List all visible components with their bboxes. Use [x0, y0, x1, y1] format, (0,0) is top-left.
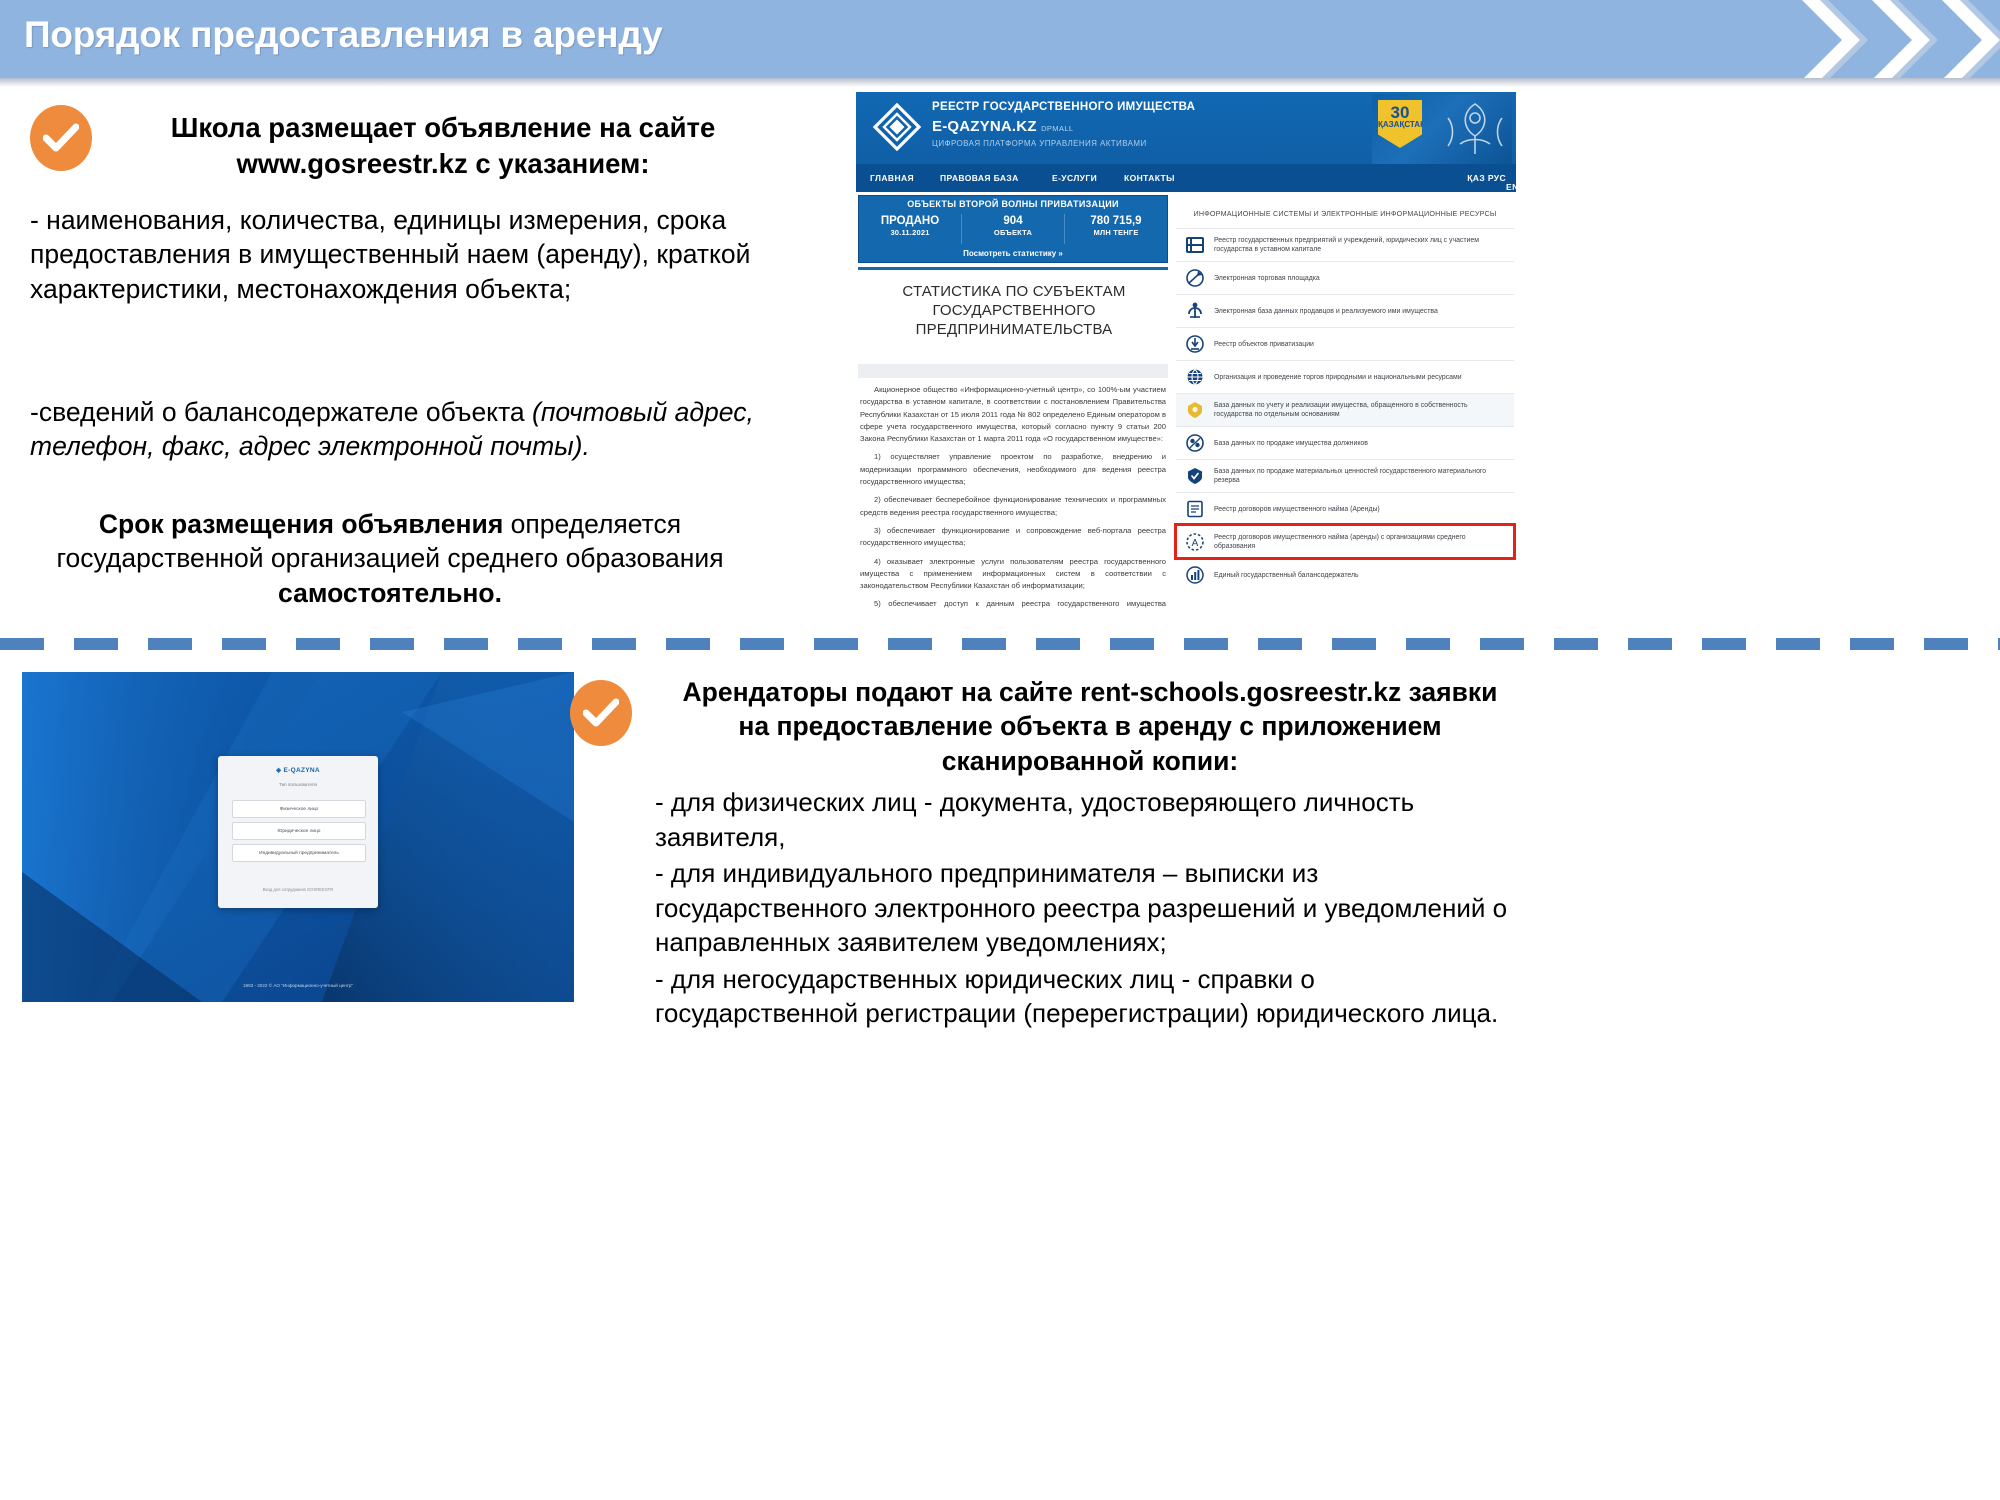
list-item-label: Реестр договоров имущественного найма (а…: [1214, 533, 1506, 552]
list-item[interactable]: Электронная торговая площадка: [1176, 261, 1514, 294]
site-brand-main: E-QAZYNA.KZ: [932, 118, 1037, 135]
anniversary-badge: 30 ҚАЗАҚСТАН: [1378, 100, 1422, 148]
anniversary-label: ҚАЗАҚСТАН: [1378, 120, 1426, 129]
debtors-icon: [1184, 432, 1206, 454]
list-item-label: База данных по учету и реализации имущес…: [1214, 401, 1506, 420]
school-rent-icon: A: [1184, 531, 1206, 553]
left-paragraph-3-bold-a: Срок размещения объявления: [99, 509, 503, 539]
login-subtitle: Тип пользователя: [218, 782, 378, 787]
article-paragraph: 4) оказывает электронные услуги пользова…: [860, 556, 1166, 593]
list-item-label: Реестр объектов приватизации: [1214, 340, 1314, 350]
list-item-school-rent-registry-highlighted[interactable]: A Реестр договоров имущественного найма …: [1176, 525, 1514, 558]
stats-underline: [858, 267, 1168, 270]
stat-cell-sold: ПРОДАНО 30.11.2021: [859, 214, 962, 244]
article-title: СТАТИСТИКА ПО СУБЪЕКТАМ ГОСУДАРСТВЕННОГО…: [864, 282, 1164, 340]
privatization-stats-box: ОБЪЕКТЫ ВТОРОЙ ВОЛНЫ ПРИВАТИЗАЦИИ ПРОДАН…: [858, 195, 1168, 263]
bottom-right-heading-line1: Арендаторы подают на сайте rent-schools.…: [683, 677, 1498, 707]
site-tagline: ЦИФРОВАЯ ПЛАТФОРМА УПРАВЛЕНИЯ АКТИВАМИ: [932, 139, 1147, 148]
article-separator: [858, 364, 1168, 378]
stat-count-label: ОБЪЕКТА: [962, 228, 1064, 237]
header-shadow: [0, 78, 2000, 87]
trade-platform-icon: [1184, 267, 1206, 289]
login-footer: 1993 - 2022 © АО "Информационно-учетный …: [22, 983, 574, 988]
article-paragraph: 5) обеспечивает доступ к данным реестра …: [860, 598, 1166, 612]
article-paragraph: 1) осуществляет управление проектом по р…: [860, 451, 1166, 488]
site-navigation-bar[interactable]: ГЛАВНАЯ ПРАВОВАЯ БАЗА Е-УСЛУГИ КОНТАКТЫ …: [856, 164, 1516, 192]
reserve-icon: [1184, 465, 1206, 487]
article-body: Акционерное общество «Информационно-учет…: [860, 384, 1166, 612]
list-item-label: Единый государственный балансодержатель: [1214, 571, 1359, 581]
list-item[interactable]: Электронная база данных продавцов и реал…: [1176, 294, 1514, 327]
site-registry-title: РЕЕСТР ГОСУДАРСТВЕННОГО ИМУЩЕСТВА: [932, 101, 1195, 113]
lang-kaz[interactable]: ҚАЗ: [1467, 173, 1485, 183]
list-item-label: Организация и проведение торгов природны…: [1214, 373, 1462, 383]
article-paragraph: Акционерное общество «Информационно-учет…: [860, 384, 1166, 445]
stats-row: ПРОДАНО 30.11.2021 904 ОБЪЕКТА 780 715,9…: [859, 214, 1167, 244]
list-item[interactable]: Реестр объектов приватизации: [1176, 327, 1514, 360]
list-item-label: Реестр договоров имущественного найма (А…: [1214, 505, 1380, 515]
site-brand: E-QAZYNA.KZ DPMALL: [932, 118, 1074, 135]
site-brand-suffix: DPMALL: [1041, 124, 1073, 133]
nav-item-contacts[interactable]: КОНТАКТЫ: [1124, 173, 1175, 183]
left-paragraph-3-bold-b: самостоятельно.: [278, 578, 502, 608]
list-item-label: Реестр государственных предприятий и учр…: [1214, 236, 1506, 255]
bottom-right-heading-line3: сканированной копии:: [942, 746, 1238, 776]
bottom-right-heading-line2: на предоставление объекта в аренду с при…: [738, 711, 1441, 741]
bottom-right-list: - для физических лиц - документа, удосто…: [655, 785, 1525, 1033]
ornament-icon: [1440, 98, 1510, 160]
information-systems-sidebar: ИНФОРМАЦИОННЫЕ СИСТЕМЫ И ЭЛЕКТРОННЫЕ ИНФ…: [1176, 195, 1514, 591]
balance-holder-icon: [1184, 564, 1206, 586]
stat-cell-amount: 780 715,9 МЛН ТЕНГЕ: [1065, 214, 1167, 244]
list-item[interactable]: База данных по продаже имущества должник…: [1176, 426, 1514, 459]
lang-rus[interactable]: РУС: [1488, 173, 1506, 183]
stat-count-value: 904: [962, 214, 1064, 228]
stat-cell-count: 904 ОБЪЕКТА: [962, 214, 1065, 244]
check-circle-icon: [570, 680, 632, 746]
view-statistics-link[interactable]: Посмотреть статистику »: [859, 249, 1167, 258]
check-circle-icon: [30, 105, 92, 171]
list-item-label: База данных по продаже имущества должник…: [1214, 439, 1368, 449]
site-header-bar: РЕЕСТР ГОСУДАРСТВЕННОГО ИМУЩЕСТВА E-QAZY…: [856, 92, 1516, 164]
bottom-right-item: - для индивидуального предпринимателя – …: [655, 856, 1525, 960]
left-paragraph-2-lead: -сведений о балансодержателе объекта: [30, 397, 532, 427]
list-item[interactable]: Единый государственный балансодержатель: [1176, 558, 1514, 591]
list-item[interactable]: Реестр договоров имущественного найма (А…: [1176, 492, 1514, 525]
database-people-icon: [1184, 300, 1206, 322]
bottom-right-item: - для негосударственных юридических лиц …: [655, 962, 1525, 1031]
list-item[interactable]: База данных по учету и реализации имущес…: [1176, 393, 1514, 426]
gold-shield-icon: [1184, 399, 1206, 421]
left-paragraph-2: -сведений о балансодержателе объекта (по…: [30, 395, 760, 464]
gosreestr-website-screenshot: РЕЕСТР ГОСУДАРСТВЕННОГО ИМУЩЕСТВА E-QAZY…: [856, 92, 1516, 612]
login-staff-note[interactable]: Вход для сотрудников GOSREESTR: [218, 887, 378, 892]
nav-item-eservices[interactable]: Е-УСЛУГИ: [1052, 173, 1097, 183]
left-paragraph-3: Срок размещения объявления определяется …: [40, 507, 740, 610]
diamond-logo-icon: [872, 102, 922, 152]
list-item-label: Электронная торговая площадка: [1214, 274, 1320, 284]
list-item[interactable]: Организация и проведение торгов природны…: [1176, 360, 1514, 393]
nav-item-home[interactable]: ГЛАВНАЯ: [870, 173, 914, 183]
login-brand-label: E-QAZYNA: [284, 767, 320, 774]
stat-amount-value: 780 715,9: [1065, 214, 1167, 228]
list-item[interactable]: Реестр государственных предприятий и учр…: [1176, 228, 1514, 261]
left-heading-line1: Школа размещает объявление на сайте: [171, 112, 716, 143]
list-item-label: Электронная база данных продавцов и реал…: [1214, 307, 1438, 317]
left-paragraph-1: - наименования, количества, единицы изме…: [30, 203, 760, 306]
stat-amount-label: МЛН ТЕНГЕ: [1065, 228, 1167, 237]
kazakhstan-emblem-banner: 30 ҚАЗАҚСТАН: [1372, 94, 1512, 164]
left-heading: Школа размещает объявление на сайте www.…: [98, 110, 788, 183]
stat-sold-value: ПРОДАНО: [859, 214, 961, 228]
left-heading-line2: www.gosreestr.kz с указанием:: [236, 148, 649, 179]
dashed-divider: [0, 638, 2000, 650]
nav-item-legal[interactable]: ПРАВОВАЯ БАЗА: [940, 173, 1019, 183]
list-item-label: База данных по продаже материальных ценн…: [1214, 467, 1506, 486]
chevron-decor-3: [1926, 0, 2000, 78]
globe-auction-icon: [1184, 366, 1206, 388]
user-type-entrepreneur-button[interactable]: Индивидуальный предприниматель: [232, 844, 366, 862]
login-page-screenshot: ◈ E-QAZYNA Тип пользователя Физическое л…: [22, 672, 574, 1002]
slide-header: Порядок предоставления в аренду: [0, 0, 2000, 78]
article-paragraph: 2) обеспечивает бесперебойное функционир…: [860, 494, 1166, 519]
lang-eng[interactable]: ENG: [1506, 182, 1516, 192]
anniversary-number: 30: [1378, 104, 1422, 121]
user-type-individual-button[interactable]: Физическое лицо: [232, 800, 366, 818]
sidebar-title: ИНФОРМАЦИОННЫЕ СИСТЕМЫ И ЭЛЕКТРОННЫЕ ИНФ…: [1176, 195, 1514, 228]
login-brand: ◈ E-QAZYNA: [218, 766, 378, 774]
registry-icon: [1184, 234, 1206, 256]
user-type-legal-button[interactable]: Юридическое лицо: [232, 822, 366, 840]
stat-sold-label: 30.11.2021: [859, 228, 961, 237]
stats-title: ОБЪЕКТЫ ВТОРОЙ ВОЛНЫ ПРИВАТИЗАЦИИ: [859, 199, 1167, 209]
page-title: Порядок предоставления в аренду: [24, 14, 662, 56]
article-paragraph: 3) обеспечивает функционирование и сопро…: [860, 525, 1166, 550]
language-switcher[interactable]: ҚАЗ РУС ENG: [1467, 173, 1506, 183]
left-content-column: Школа размещает объявление на сайте www.…: [0, 95, 820, 635]
user-type-card: ◈ E-QAZYNA Тип пользователя Физическое л…: [218, 756, 378, 908]
svg-text:A: A: [1192, 538, 1199, 549]
bottom-right-item: - для физических лиц - документа, удосто…: [655, 785, 1525, 854]
privatization-icon: [1184, 333, 1206, 355]
list-item[interactable]: База данных по продаже материальных ценн…: [1176, 459, 1514, 492]
bottom-right-heading: Арендаторы подают на сайте rent-schools.…: [660, 675, 1520, 778]
contracts-icon: [1184, 498, 1206, 520]
